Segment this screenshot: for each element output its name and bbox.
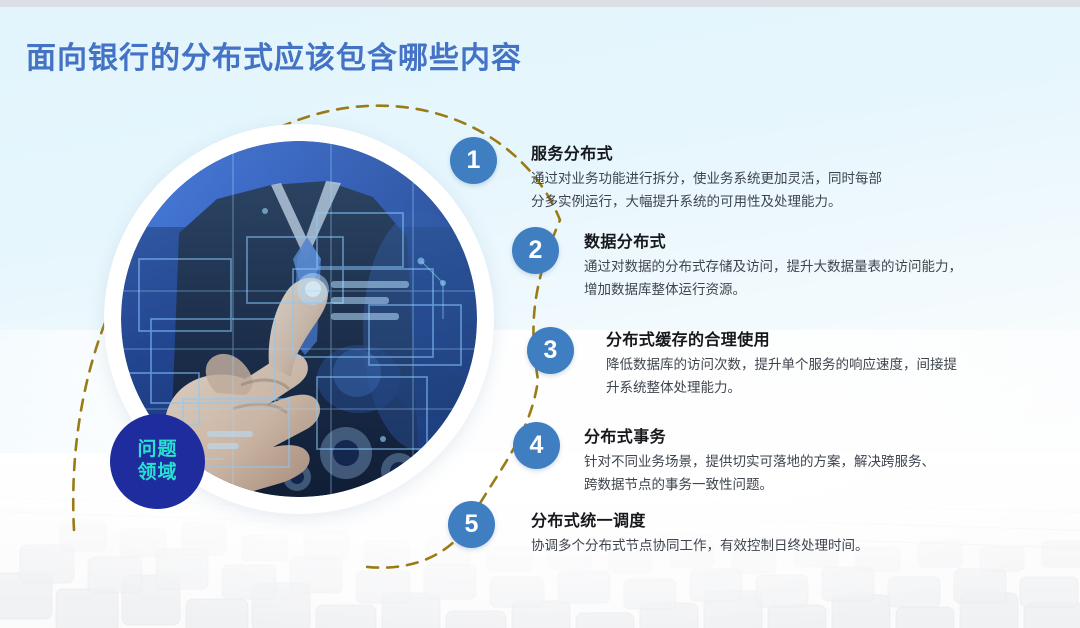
item-description-1: 通过对业务功能进行拆分，使业务系统更加灵活，同时每部 分多实例运行，大幅提升系统…: [531, 168, 1031, 213]
item-text-5: 分布式统一调度 协调多个分布式节点协同工作，有效控制日终处理时间。: [531, 507, 1001, 558]
top-divider-bar: [0, 0, 1080, 7]
item-description-4: 针对不同业务场景，提供切实可落地的方案，解决跨服务、 跨数据节点的事务一致性问题…: [584, 451, 1054, 496]
problem-domain-badge: 问题 领域: [110, 414, 205, 509]
item-description-5: 协调多个分布式节点协同工作，有效控制日终处理时间。: [531, 535, 1001, 558]
item-heading-2: 数据分布式: [584, 228, 1054, 252]
badge-line-1: 问题: [137, 439, 177, 461]
slide-canvas: 面向银行的分布式应该包含哪些内容: [0, 0, 1080, 628]
item-number-5: 5: [448, 501, 495, 548]
item-heading-4: 分布式事务: [584, 423, 1054, 447]
page-title: 面向银行的分布式应该包含哪些内容: [26, 33, 522, 77]
item-description-3: 降低数据库的访问次数，提升单个服务的响应速度，间接提 升系统整体处理能力。: [606, 354, 1066, 399]
item-description-2: 通过对数据的分布式存储及访问，提升大数据量表的访问能力， 增加数据库整体运行资源…: [584, 256, 1054, 301]
item-number-4: 4: [513, 422, 560, 469]
item-text-3: 分布式缓存的合理使用 降低数据库的访问次数，提升单个服务的响应速度，间接提 升系…: [606, 326, 1066, 399]
item-heading-3: 分布式缓存的合理使用: [606, 326, 1066, 350]
item-text-1: 服务分布式 通过对业务功能进行拆分，使业务系统更加灵活，同时每部 分多实例运行，…: [531, 140, 1031, 213]
item-heading-5: 分布式统一调度: [531, 507, 1001, 531]
item-number-2: 2: [512, 227, 559, 274]
item-number-3: 3: [527, 327, 574, 374]
item-text-2: 数据分布式 通过对数据的分布式存储及访问，提升大数据量表的访问能力， 增加数据库…: [584, 228, 1054, 301]
item-text-4: 分布式事务 针对不同业务场景，提供切实可落地的方案，解决跨服务、 跨数据节点的事…: [584, 423, 1054, 496]
item-heading-1: 服务分布式: [531, 140, 1031, 164]
badge-line-2: 领域: [137, 462, 177, 484]
item-number-1: 1: [450, 137, 497, 184]
